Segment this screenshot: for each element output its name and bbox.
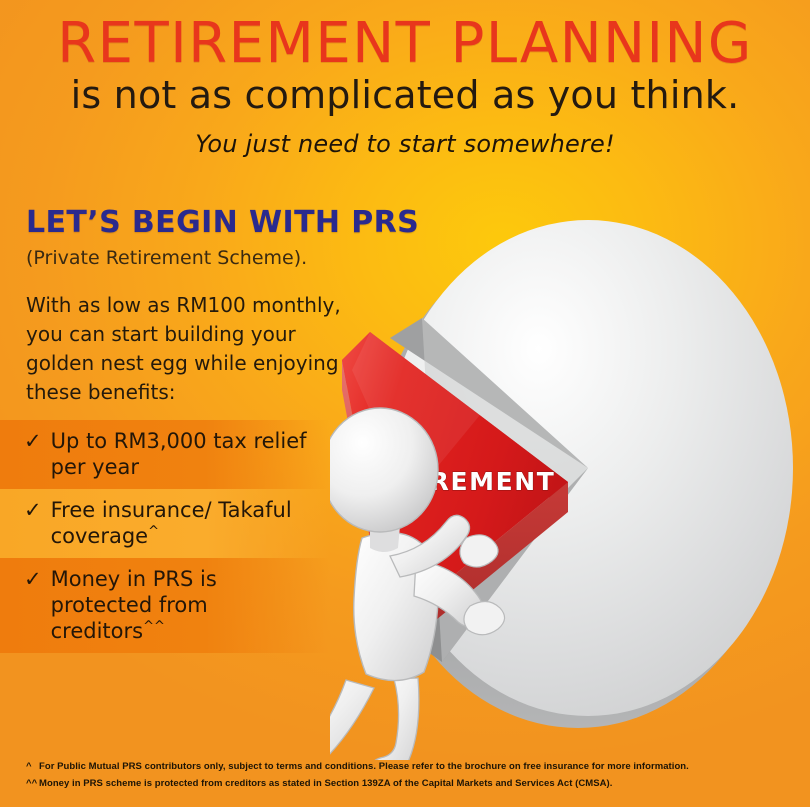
- footnotes: ^For Public Mutual PRS contributors only…: [0, 760, 810, 795]
- section-heading: LET’S BEGIN WITH PRS: [26, 205, 440, 240]
- section-subheading: (Private Retirement Scheme).: [26, 247, 440, 269]
- benefit-footnote-marker: ^: [148, 524, 159, 539]
- check-icon: ✓: [24, 498, 42, 524]
- poster-header: RETIREMENT PLANNING is not as complicate…: [0, 0, 810, 158]
- footnote-row: ^For Public Mutual PRS contributors only…: [26, 760, 810, 775]
- footnote-text: Money in PRS scheme is protected from cr…: [39, 778, 612, 789]
- footnote-text: For Public Mutual PRS contributors only,…: [39, 761, 689, 772]
- footnote-marker: ^^: [26, 777, 39, 792]
- benefit-label: Up to RM3,000 tax relief per year: [51, 429, 320, 480]
- check-icon: ✓: [24, 567, 42, 593]
- benefit-label: Money in PRS is protected from creditors…: [51, 567, 320, 644]
- poster-canvas: RETIREMENT PLANNING is not as complicate…: [0, 0, 810, 807]
- intro-blurb: With as low as RM100 monthly, you can st…: [26, 291, 356, 407]
- page-tagline: You just need to start somewhere!: [0, 130, 810, 158]
- left-content-column: LET’S BEGIN WITH PRS (Private Retirement…: [0, 205, 440, 407]
- page-title: RETIREMENT PLANNING: [0, 0, 810, 72]
- footnote-row: ^^Money in PRS scheme is protected from …: [26, 777, 810, 792]
- page-subtitle: is not as complicated as you think.: [0, 76, 810, 116]
- footnote-marker: ^: [26, 760, 39, 775]
- benefit-item: ✓ Money in PRS is protected from credito…: [0, 558, 330, 653]
- check-icon: ✓: [24, 429, 42, 455]
- benefits-list: ✓ Up to RM3,000 tax relief per year ✓ Fr…: [0, 420, 330, 653]
- benefit-item: ✓ Up to RM3,000 tax relief per year: [0, 420, 330, 489]
- benefit-item: ✓ Free insurance/ Takaful coverage^: [0, 489, 330, 558]
- benefit-footnote-marker: ^^: [143, 619, 165, 634]
- benefit-label: Free insurance/ Takaful coverage^: [51, 498, 320, 549]
